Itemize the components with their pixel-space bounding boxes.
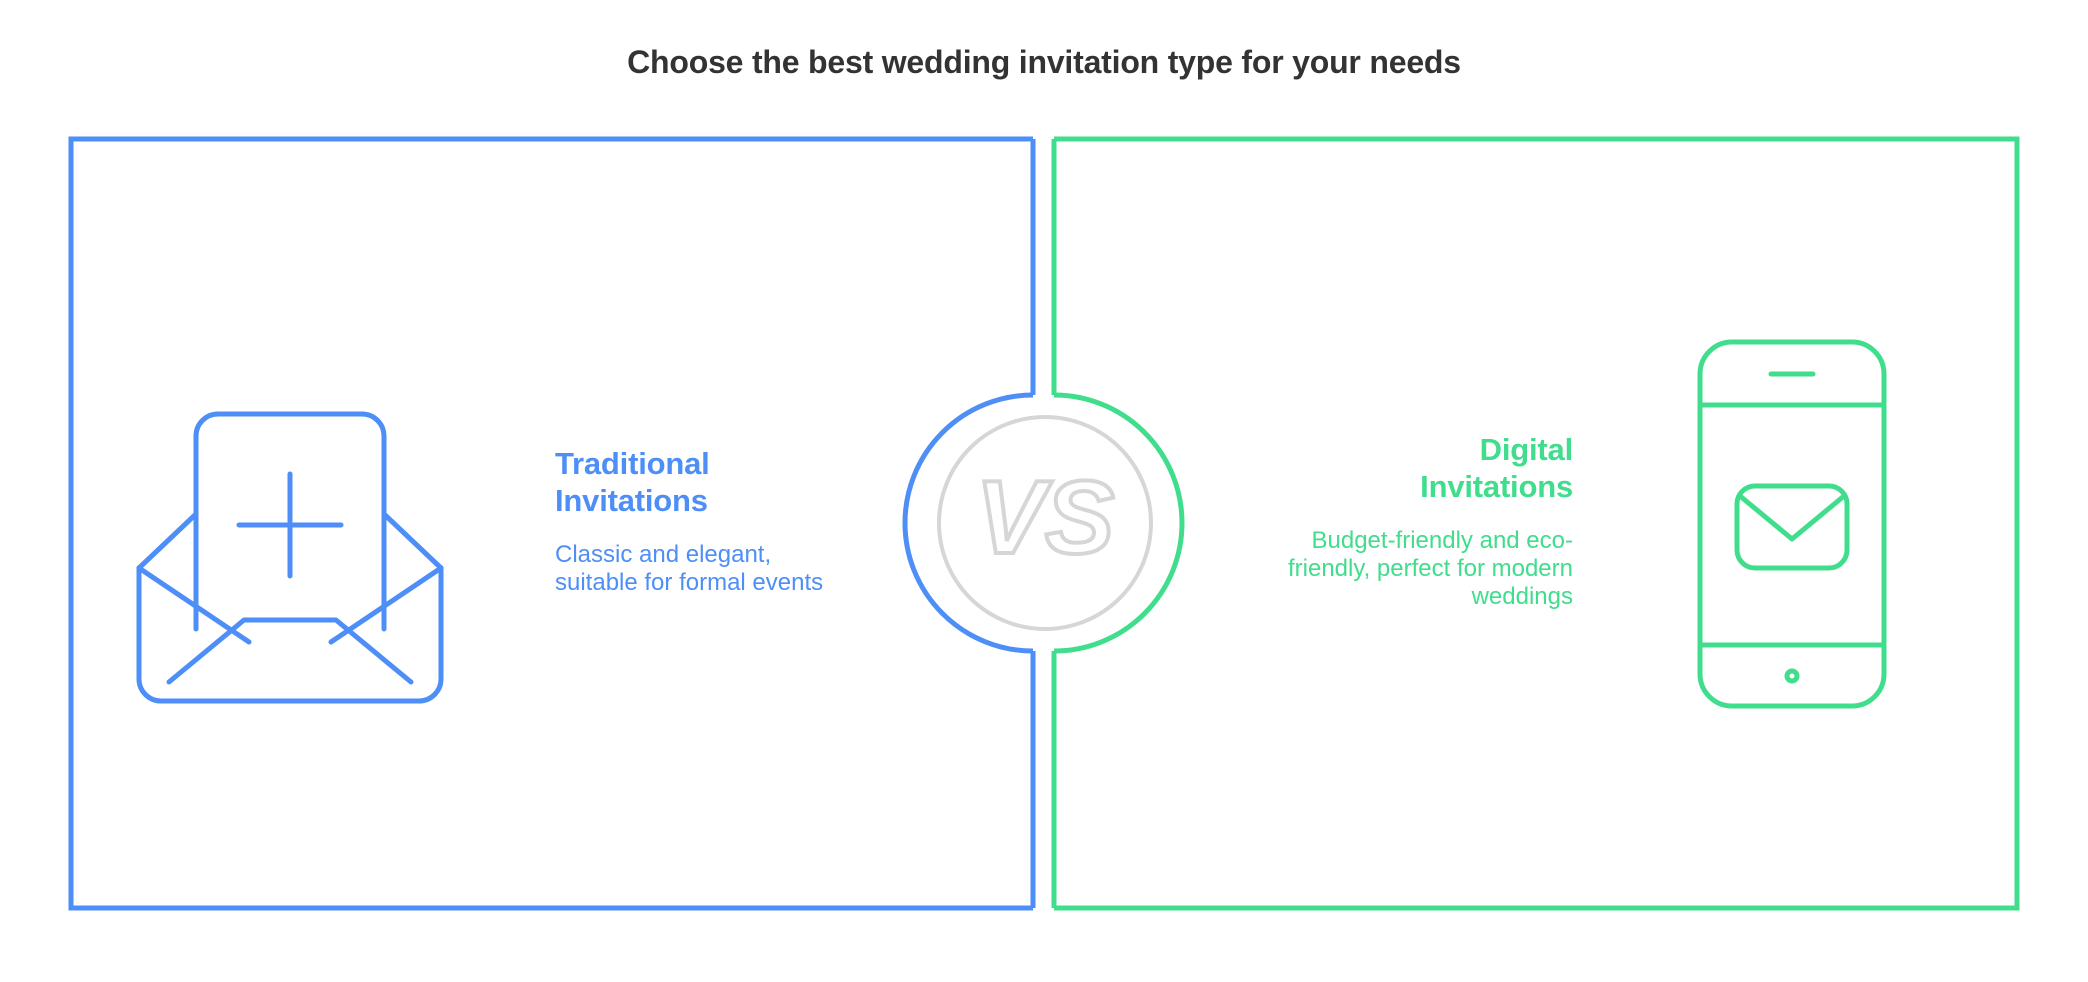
open-envelope-with-card-icon xyxy=(131,324,511,724)
panel-heading-line-1: Traditional xyxy=(555,446,710,481)
panel-description-traditional: Classic and elegant, suitable for formal… xyxy=(555,541,845,597)
panel-text-digital: Digital Invitations Budget-friendly and … xyxy=(1283,432,1573,611)
vs-badge: VS xyxy=(889,367,1201,679)
panel-heading-line-1: Digital xyxy=(1480,432,1573,467)
panel-description-digital: Budget-friendly and eco-friendly, perfec… xyxy=(1283,527,1573,610)
panel-heading-line-2: Invitations xyxy=(555,483,708,518)
panel-heading-digital: Digital Invitations xyxy=(1283,432,1573,505)
panel-heading-line-2: Invitations xyxy=(1420,469,1573,504)
smartphone-with-envelope-icon xyxy=(1627,324,1957,724)
panel-text-traditional: Traditional Invitations Classic and eleg… xyxy=(555,446,845,597)
vs-label: VS xyxy=(976,460,1115,576)
infographic-canvas: Choose the best wedding invitation type … xyxy=(0,0,2088,982)
panel-heading-traditional: Traditional Invitations xyxy=(555,446,845,519)
